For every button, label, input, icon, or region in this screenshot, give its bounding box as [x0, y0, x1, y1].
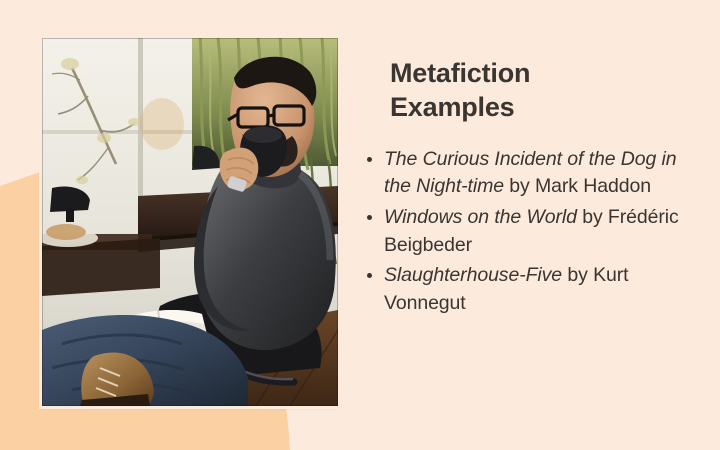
list-item: The Curious Incident of the Dog in the N…: [362, 146, 708, 201]
book-title: Slaughterhouse-Five: [384, 264, 562, 286]
list-item: Windows on the World by Frédéric Beigbed…: [362, 204, 708, 259]
list-item: Slaughterhouse-Five by Kurt Vonnegut: [362, 262, 708, 317]
photo-man-reading: [42, 38, 338, 406]
slide-canvas: MetafictionExamples The Curious Incident…: [0, 0, 720, 450]
bullet-dot-icon: [367, 215, 372, 220]
book-author: by Mark Haddon: [504, 175, 651, 197]
page-title: MetafictionExamples: [390, 56, 640, 125]
text-column: MetafictionExamples The Curious Incident…: [362, 56, 708, 416]
metafiction-examples-list: The Curious Incident of the Dog in the N…: [362, 146, 708, 318]
bullet-dot-icon: [367, 157, 372, 162]
title-line-1: Metafiction: [390, 58, 530, 88]
book-title: Windows on the World: [384, 206, 577, 228]
title-line-2: Examples: [390, 92, 514, 122]
bullet-dot-icon: [367, 273, 372, 278]
